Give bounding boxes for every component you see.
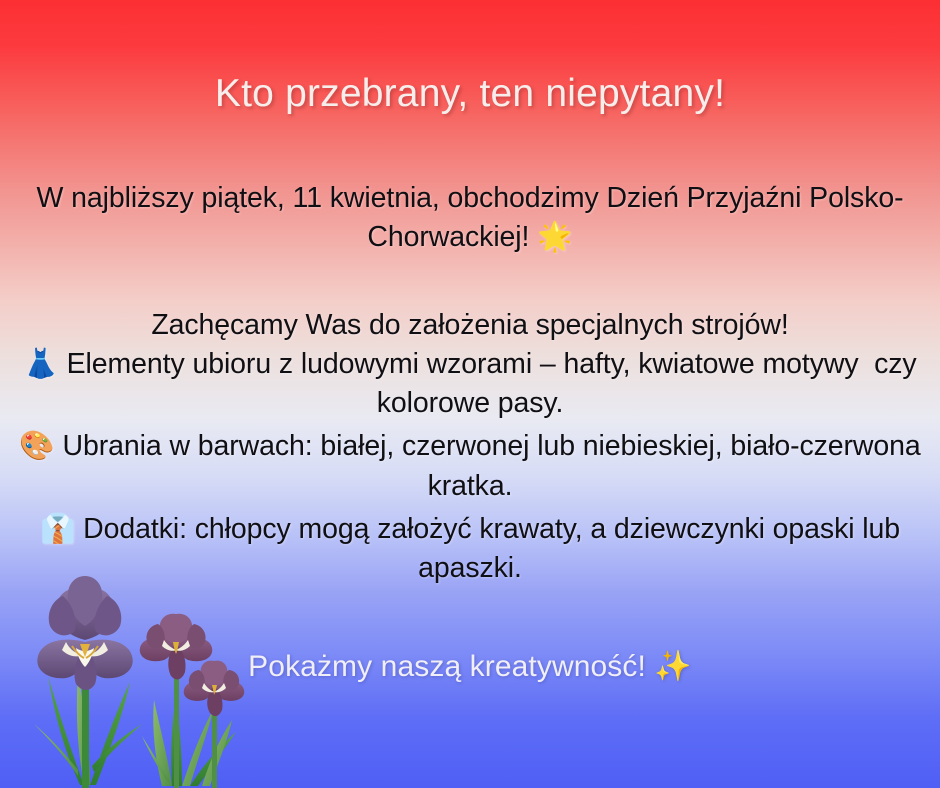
announcement-accessories-line: 👔 Dodatki: chłopcy mogą założyć krawaty,… bbox=[0, 510, 940, 589]
announcement-date-line: W najbliższy piątek, 11 kwietnia, obchod… bbox=[0, 179, 940, 258]
announcement-colors-line: 🎨 Ubrania w barwach: białej, czerwonej l… bbox=[0, 427, 940, 506]
announcement-costumes-line: Zachęcamy Was do założenia specjalnych s… bbox=[0, 306, 940, 424]
poster-closing-line: Pokażmy naszą kreatywność! ✨ bbox=[0, 589, 940, 686]
poster-content: Kto przebrany, ten niepytany! W najbliżs… bbox=[0, 0, 940, 788]
announcement-poster: Kto przebrany, ten niepytany! W najbliżs… bbox=[0, 0, 940, 788]
poster-title: Kto przebrany, ten niepytany! bbox=[0, 0, 940, 117]
